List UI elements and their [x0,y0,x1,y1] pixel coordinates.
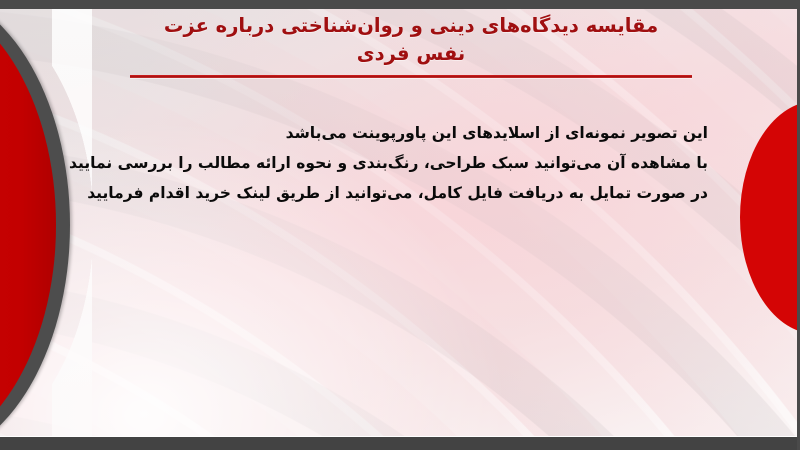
body-line-3: در صورت تمایل به دریافت فایل کامل، می‌تو… [120,178,708,208]
presentation-slide: مقایسه دیدگاه‌های دینی و روان‌شناختی درب… [0,0,800,450]
dark-frame-top [0,0,800,9]
slide-title-block: مقایسه دیدگاه‌های دینی و روان‌شناختی درب… [130,12,692,78]
slide-body-block: این تصویر نمونه‌ای از اسلایدهای این پاور… [120,118,708,209]
dark-frame-bottom [0,436,800,450]
red-divider-line [130,75,692,78]
slide-title-line-1: مقایسه دیدگاه‌های دینی و روان‌شناختی درب… [130,12,692,40]
slide-title-line-2: نفس فردی [130,40,692,68]
body-line-2: با مشاهده آن می‌توانید سبک طراحی، رنگ‌بن… [120,148,708,178]
left-white-wedge [52,8,92,442]
body-line-1: این تصویر نمونه‌ای از اسلایدهای این پاور… [120,118,708,148]
